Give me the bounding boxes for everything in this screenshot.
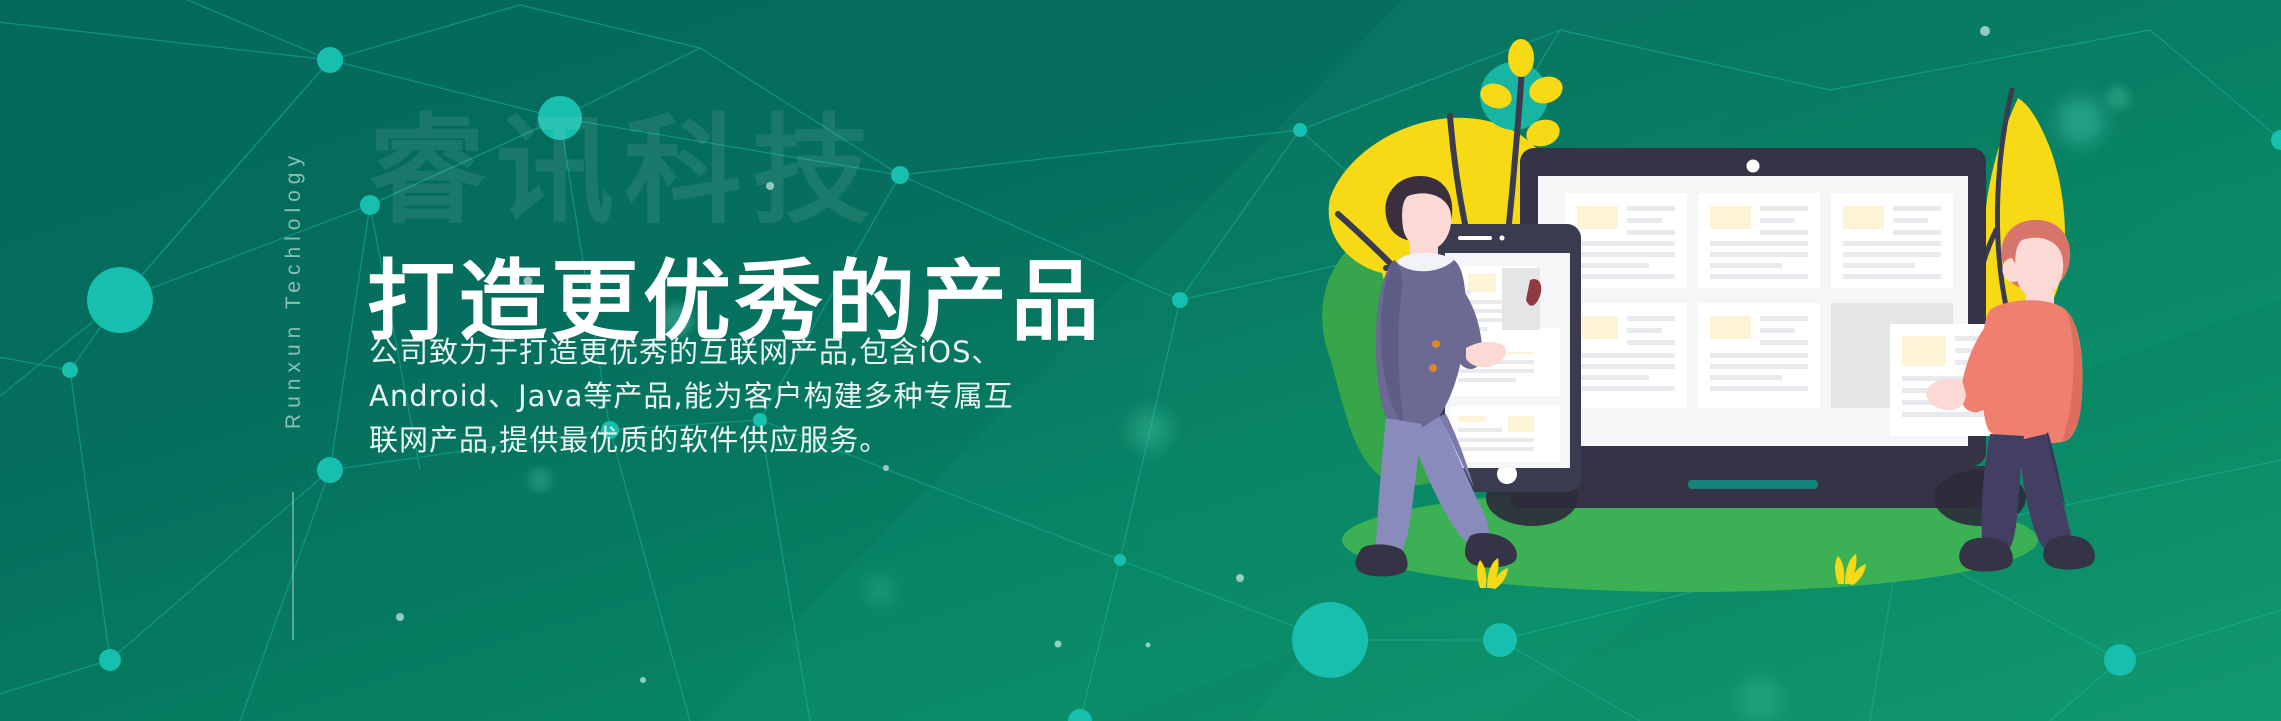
description-line-1: 公司致力于打造更优秀的互联网产品,包含iOS、 (369, 330, 1014, 374)
laptop-trackpad-bar (1688, 480, 1818, 489)
tablet-speaker (1458, 236, 1492, 240)
description-line-2: Android、Java等产品,能为客户构建多种专属互 (369, 374, 1014, 418)
screen-card (1698, 303, 1820, 408)
vertical-brand-label: Runxun Techlology (282, 150, 306, 429)
laptop-camera-dot (1747, 160, 1760, 173)
vertical-rule-divider (292, 492, 294, 640)
screen-card (1565, 303, 1687, 408)
hero-banner: Runxun Techlology 睿讯科技 打造更优秀的产品 公司致力于打造更… (0, 0, 2281, 721)
description-line-3: 联网产品,提供最优质的软件供应服务。 (369, 418, 1014, 462)
screen-card (1698, 193, 1820, 288)
screen-card (1565, 193, 1687, 288)
tablet-sensor-dot (1500, 236, 1505, 241)
team-devices-illustration (1290, 28, 2110, 648)
ghost-watermark-title: 睿讯科技 (368, 112, 880, 230)
description-text: 公司致力于打造更优秀的互联网产品,包含iOS、 Android、Java等产品,… (369, 330, 1014, 462)
screen-card (1831, 193, 1953, 288)
